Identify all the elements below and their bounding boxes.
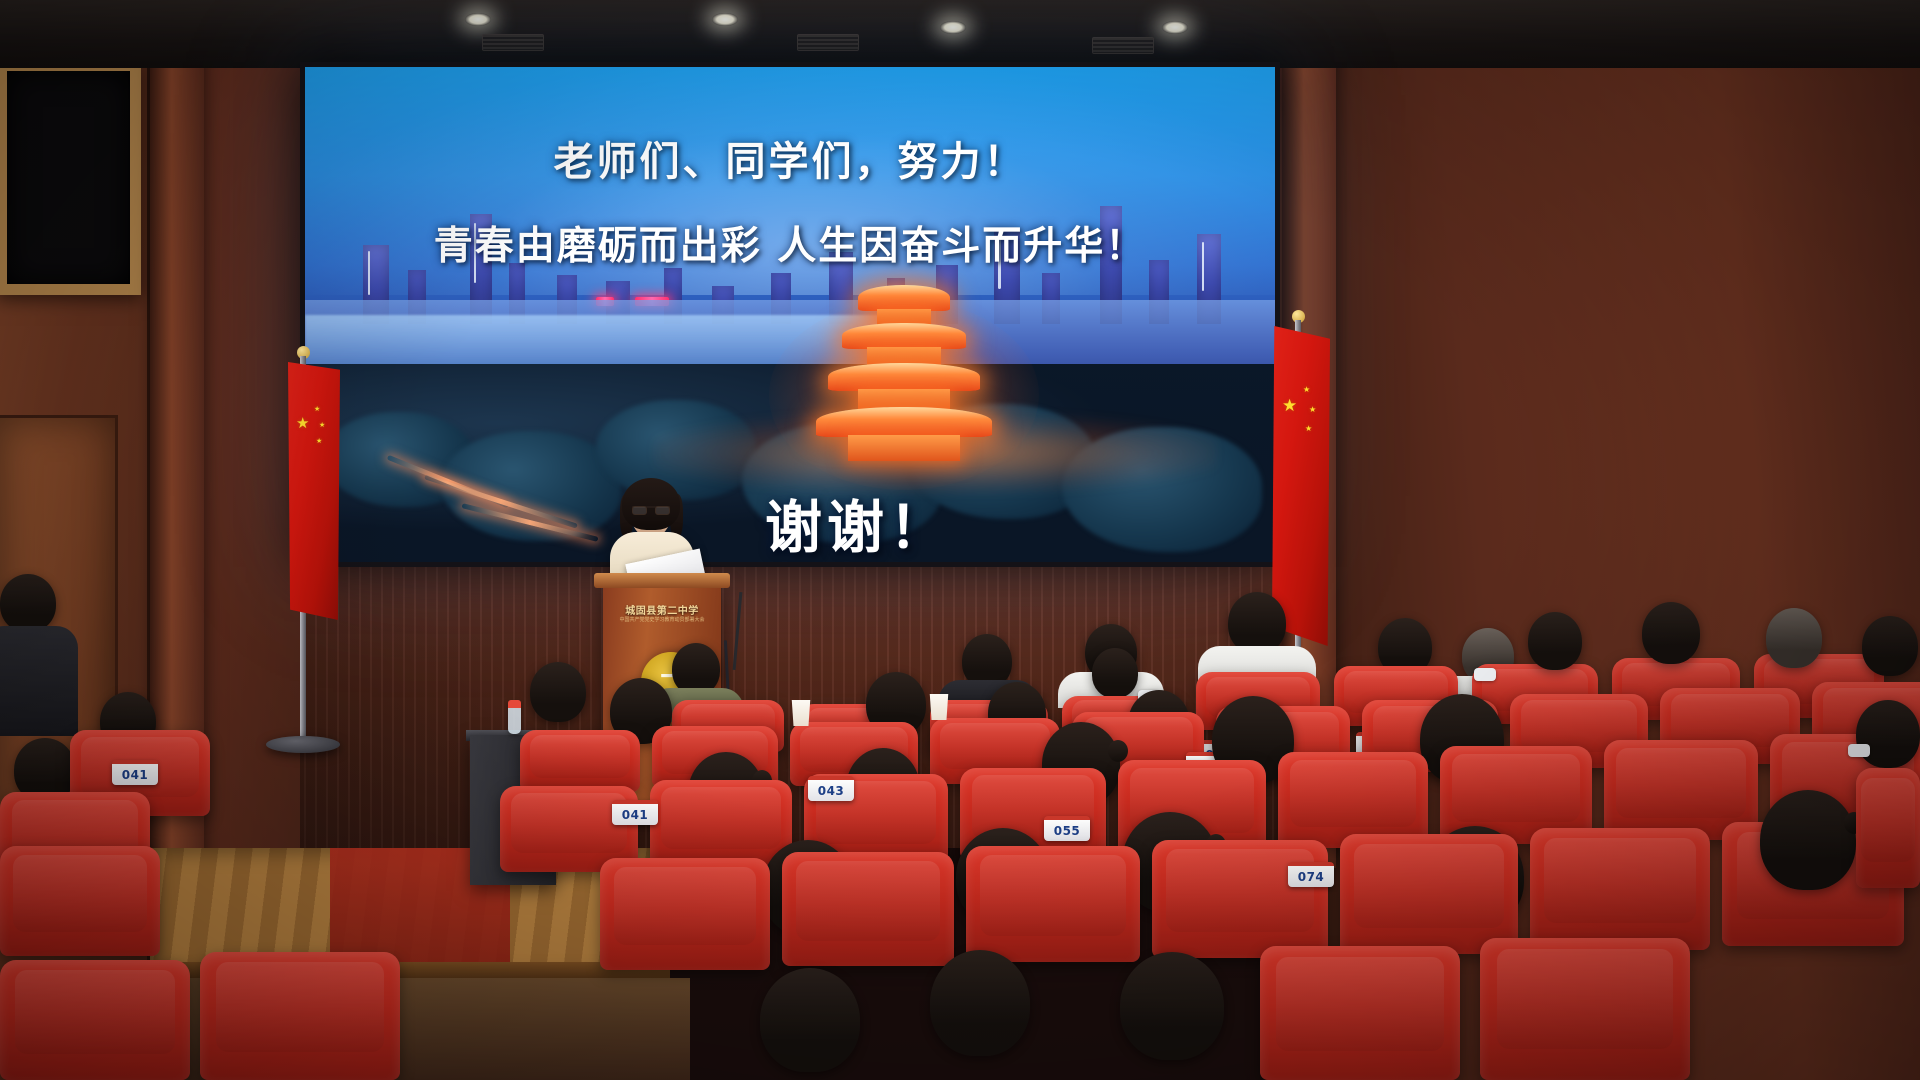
audience-head-right bbox=[1760, 790, 1856, 890]
seat-badge: 055 bbox=[1044, 816, 1090, 841]
seat[interactable] bbox=[1340, 834, 1518, 954]
seat[interactable] bbox=[782, 852, 954, 966]
seat[interactable] bbox=[600, 858, 770, 970]
audience-head bbox=[930, 950, 1030, 1056]
flag-star-icon: ★ bbox=[1309, 406, 1316, 414]
ceiling bbox=[0, 0, 1920, 68]
seat[interactable] bbox=[1856, 768, 1920, 888]
seat[interactable] bbox=[1480, 938, 1690, 1080]
right-flag: ★ ★ ★ ★ bbox=[1272, 326, 1330, 646]
audience-head bbox=[1120, 952, 1224, 1060]
ceiling-light-icon bbox=[465, 13, 491, 26]
face-mask-icon bbox=[1848, 744, 1870, 757]
flag-star-icon: ★ bbox=[1282, 398, 1297, 415]
ceiling-light-icon bbox=[940, 21, 966, 34]
water-bottle bbox=[508, 700, 521, 734]
ceiling-light-icon bbox=[1162, 21, 1188, 34]
seat[interactable] bbox=[1530, 828, 1710, 950]
yellow-crane-tower-icon bbox=[809, 285, 999, 475]
seat[interactable] bbox=[0, 846, 160, 956]
seat-badge: 041 bbox=[112, 760, 158, 785]
face-mask-icon bbox=[1474, 668, 1496, 681]
glasses-lens-left bbox=[632, 506, 647, 515]
audience-shoulders-left bbox=[0, 626, 78, 736]
seat[interactable] bbox=[1152, 840, 1328, 958]
glasses-lens-right bbox=[655, 506, 670, 515]
flag-star-icon: ★ bbox=[1305, 425, 1312, 433]
audience-head bbox=[1766, 608, 1822, 668]
wall-picture-frame bbox=[0, 60, 141, 295]
paper-cup bbox=[790, 700, 812, 726]
seat[interactable] bbox=[650, 780, 792, 868]
audience-head bbox=[760, 968, 860, 1072]
seat[interactable] bbox=[520, 730, 640, 792]
screen-content: 老师们、同学们，努力！ 青春由磨砺而出彩 人生因奋斗而升华！ 谢谢！ bbox=[305, 67, 1275, 562]
flag-star-icon: ★ bbox=[1303, 386, 1310, 394]
audience-head bbox=[1092, 648, 1138, 698]
podium-sign-sub: 中国共产党党史学习教育动员部署大会 bbox=[611, 616, 713, 623]
podium-top bbox=[594, 573, 730, 588]
air-vent-icon bbox=[797, 34, 859, 51]
flag-star-icon: ★ bbox=[316, 438, 322, 445]
led-screen: 老师们、同学们，努力！ 青春由磨砺而出彩 人生因奋斗而升华！ 谢谢！ bbox=[300, 62, 1280, 567]
seat[interactable] bbox=[1260, 946, 1460, 1080]
slide-title: 老师们、同学们，努力！ bbox=[305, 129, 1275, 187]
left-flag: ★ ★ ★ ★ bbox=[288, 362, 340, 620]
audience-head bbox=[530, 662, 586, 722]
podium-sign-main: 城固县第二中学 bbox=[611, 602, 713, 617]
audience-head bbox=[1642, 602, 1700, 664]
flag-star-icon: ★ bbox=[319, 422, 325, 429]
hair bbox=[622, 478, 680, 530]
slide-subtitle: 青春由磨砺而出彩 人生因奋斗而升华！ bbox=[305, 215, 1275, 271]
seat-badge: 041 bbox=[612, 800, 658, 825]
audience-head-right bbox=[1856, 700, 1920, 768]
seat[interactable] bbox=[0, 960, 190, 1080]
audience-head bbox=[1862, 616, 1918, 676]
seat-badge: 043 bbox=[808, 776, 854, 801]
flag-star-icon: ★ bbox=[314, 406, 320, 413]
slide-thanks-text: 谢谢！ bbox=[765, 482, 951, 562]
seat[interactable] bbox=[200, 952, 400, 1080]
seat[interactable] bbox=[966, 846, 1140, 962]
air-vent-icon bbox=[482, 34, 544, 51]
audience-head-left bbox=[0, 574, 56, 632]
audience-head bbox=[1528, 612, 1582, 670]
audience-head bbox=[1228, 592, 1286, 654]
air-vent-icon bbox=[1092, 37, 1154, 54]
flag-base bbox=[266, 736, 340, 753]
ceiling-light-icon bbox=[712, 13, 738, 26]
auditorium-scene: 老师们、同学们，努力！ 青春由磨砺而出彩 人生因奋斗而升华！ 谢谢！ ★ ★ ★… bbox=[0, 0, 1920, 1080]
seat-badge: 074 bbox=[1288, 862, 1334, 887]
paper-cup bbox=[928, 694, 950, 720]
flag-star-icon: ★ bbox=[296, 416, 309, 431]
